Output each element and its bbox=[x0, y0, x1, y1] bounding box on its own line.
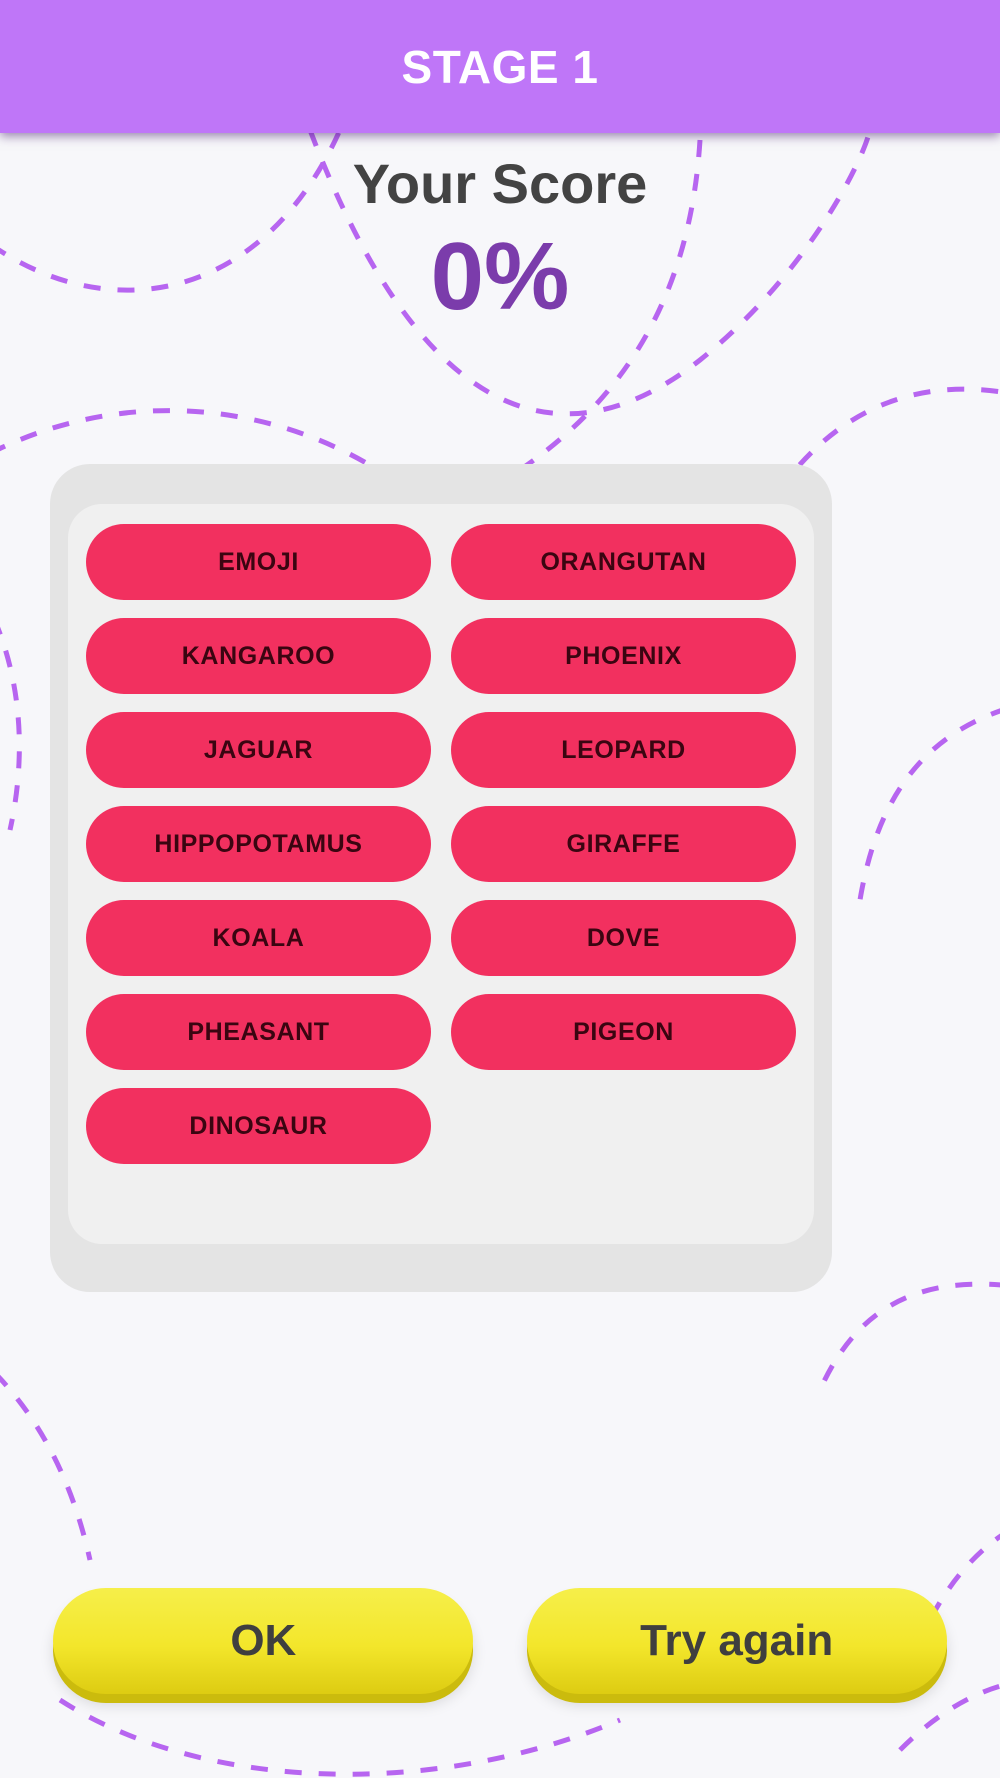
page-title: STAGE 1 bbox=[402, 40, 599, 94]
answer-pill[interactable]: PHEASANT bbox=[86, 994, 431, 1070]
answer-pill[interactable]: PIGEON bbox=[451, 994, 796, 1070]
footer-actions: OK Try again bbox=[0, 1588, 1000, 1728]
answer-pill[interactable]: ORANGUTAN bbox=[451, 524, 796, 600]
decor-arc-9 bbox=[0, 1350, 90, 1560]
score-block: Your Score 0% bbox=[0, 152, 1000, 330]
answer-pill[interactable]: EMOJI bbox=[86, 524, 431, 600]
answer-pill[interactable]: PHOENIX bbox=[451, 618, 796, 694]
answer-pill[interactable]: KOALA bbox=[86, 900, 431, 976]
decor-arc-6 bbox=[0, 560, 19, 830]
ok-button[interactable]: OK bbox=[53, 1588, 473, 1694]
results-card: EMOJIORANGUTANKANGAROOPHOENIXJAGUARLEOPA… bbox=[50, 464, 832, 1292]
answer-pill[interactable]: DOVE bbox=[451, 900, 796, 976]
app-header: STAGE 1 bbox=[0, 0, 1000, 133]
results-inner-panel: EMOJIORANGUTANKANGAROOPHOENIXJAGUARLEOPA… bbox=[68, 504, 814, 1244]
score-label: Your Score bbox=[0, 152, 1000, 217]
answer-grid: EMOJIORANGUTANKANGAROOPHOENIXJAGUARLEOPA… bbox=[86, 524, 796, 1164]
answer-pill[interactable]: HIPPOPOTAMUS bbox=[86, 806, 431, 882]
score-value: 0% bbox=[0, 223, 1000, 331]
decor-arc-8 bbox=[820, 1284, 1000, 1390]
answer-pill[interactable]: GIRAFFE bbox=[451, 806, 796, 882]
answer-pill[interactable]: JAGUAR bbox=[86, 712, 431, 788]
try-again-button[interactable]: Try again bbox=[527, 1588, 947, 1694]
decor-arc-7 bbox=[860, 700, 1000, 900]
answer-pill[interactable]: DINOSAUR bbox=[86, 1088, 431, 1164]
answer-pill[interactable]: LEOPARD bbox=[451, 712, 796, 788]
answer-pill[interactable]: KANGAROO bbox=[86, 618, 431, 694]
